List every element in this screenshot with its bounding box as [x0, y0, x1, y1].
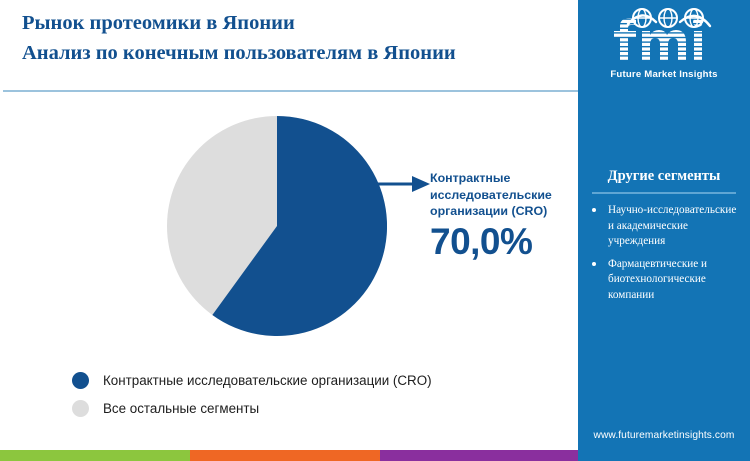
- title-line-1: Рынок протеомики в Японии: [22, 8, 562, 38]
- bullet-icon: [592, 262, 596, 266]
- callout: Контрактные исследовательские организаци…: [430, 170, 565, 263]
- legend-item-cro: Контрактные исследовательские организаци…: [72, 366, 432, 394]
- other-segments-box: Другие сегменты Научно-исследовательские…: [578, 168, 750, 310]
- callout-label-line-3: организации (CRO): [430, 203, 565, 220]
- page-title: Рынок протеомики в Японии Анализ по коне…: [22, 8, 562, 68]
- callout-percentage: 70,0%: [430, 221, 565, 263]
- footer-website-url[interactable]: www.futuremarketinsights.com: [578, 430, 750, 441]
- legend-swatch-icon: [72, 372, 89, 389]
- pie-chart: [167, 116, 387, 336]
- callout-label-line-2: исследовательские: [430, 187, 565, 204]
- other-segments-divider: [592, 192, 736, 194]
- fmi-logo-icon: [598, 6, 730, 68]
- color-bar-segment-green: [0, 450, 190, 461]
- color-bar-segment-orange: [190, 450, 380, 461]
- title-line-2: Анализ по конечным пользователям в Япони…: [22, 38, 562, 68]
- fmi-logo-tagline: Future Market Insights: [578, 69, 750, 80]
- callout-label-line-1: Контрактные: [430, 170, 565, 187]
- chart-legend: Контрактные исследовательские организаци…: [72, 366, 432, 422]
- other-segments-title: Другие сегменты: [578, 168, 750, 185]
- list-item-label: Научно-исследовательские и академические…: [608, 204, 736, 247]
- bullet-icon: [592, 208, 596, 212]
- fmi-logo: Future Market Insights: [578, 6, 750, 86]
- list-item: Научно-исследовательские и академические…: [586, 203, 740, 250]
- list-item: Фармацевтические и биотехнологические ко…: [586, 257, 740, 304]
- callout-arrow-icon: [352, 170, 430, 198]
- list-item-label: Фармацевтические и биотехнологические ко…: [608, 258, 707, 301]
- color-bar-segment-purple: [380, 450, 578, 461]
- legend-label: Все остальные сегменты: [103, 401, 259, 416]
- legend-swatch-icon: [72, 400, 89, 417]
- other-segments-list: Научно-исследовательские и академические…: [578, 203, 750, 303]
- footer-color-bar: [0, 450, 578, 461]
- right-sidebar: Future Market Insights Другие сегменты Н…: [578, 0, 750, 461]
- legend-label: Контрактные исследовательские организаци…: [103, 373, 432, 388]
- slide-canvas: Рынок протеомики в Японии Анализ по коне…: [0, 0, 750, 461]
- legend-item-other: Все остальные сегменты: [72, 394, 432, 422]
- title-divider: [3, 90, 578, 92]
- pie-chart-svg: [167, 116, 387, 336]
